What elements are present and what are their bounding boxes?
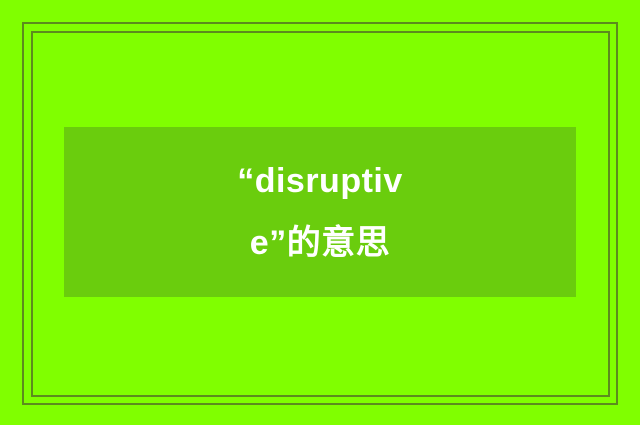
title-card: “disruptive”的意思 [64, 127, 576, 297]
poster-canvas: “disruptive”的意思 [0, 0, 640, 425]
headline-text: “disruptive”的意思 [225, 150, 415, 274]
